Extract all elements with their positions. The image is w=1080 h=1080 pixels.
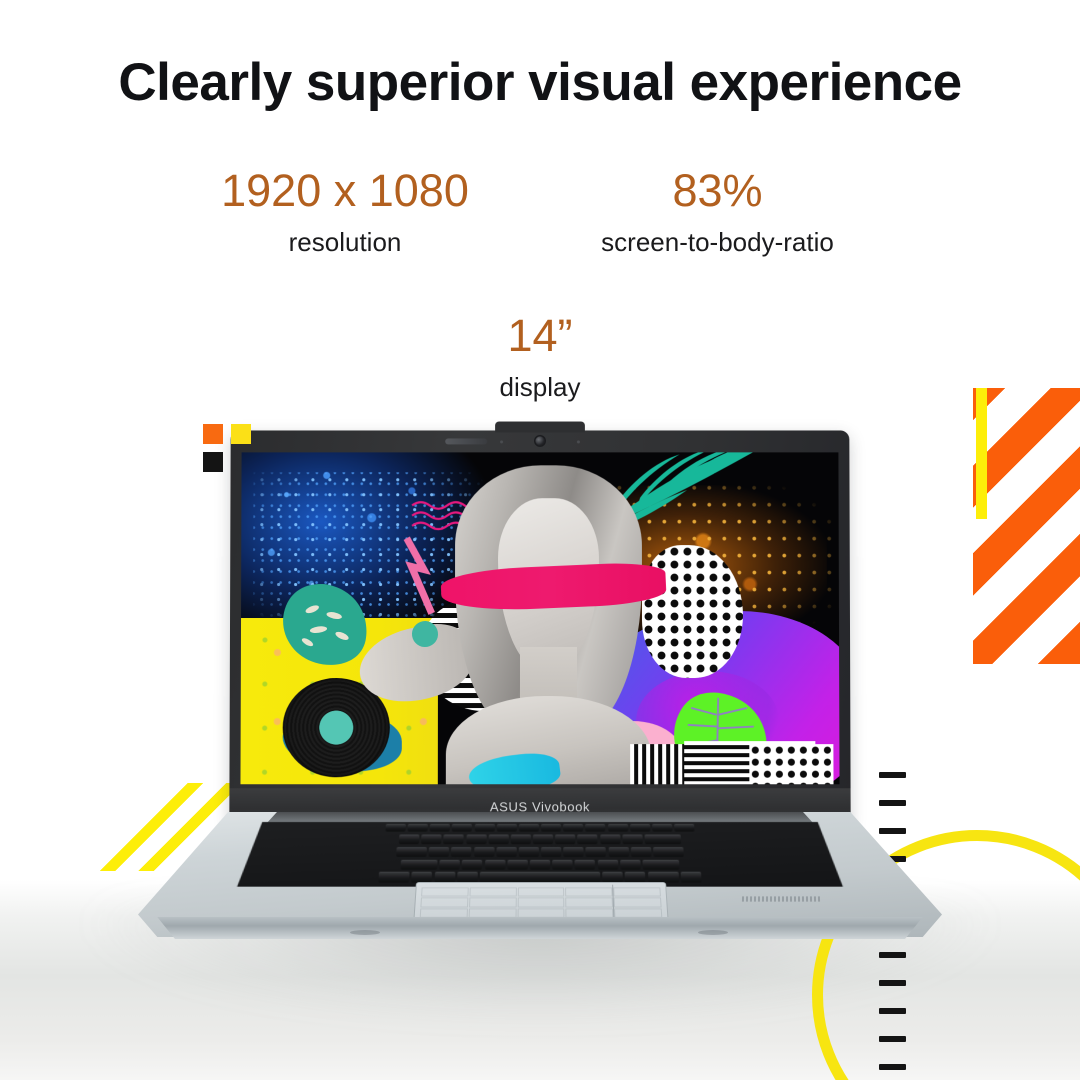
keyboard-row-number[interactable] [239,834,840,844]
backspace-key[interactable] [645,834,682,844]
key[interactable] [439,859,460,869]
spec-ratio-label: screen-to-body-ratio [545,229,890,255]
laptop-front-edge [138,917,942,939]
numpad-cell[interactable] [613,887,661,896]
key[interactable] [600,834,620,844]
orange-square-decoration [203,424,223,444]
key[interactable] [597,859,618,869]
numpad-cell[interactable] [421,887,469,896]
numpad-cell[interactable] [420,908,468,918]
key[interactable] [462,859,483,869]
key[interactable] [533,834,553,844]
tab-key[interactable] [396,847,427,857]
key[interactable] [541,824,561,832]
microphone-icon [500,440,503,443]
wallpaper-model-figure [426,459,666,784]
ctrl-key[interactable] [379,872,410,882]
key[interactable] [466,834,486,844]
key[interactable] [674,824,694,832]
wallpaper-vertical-stripes [630,744,684,784]
webcam-privacy-shutter-icon [445,438,487,444]
key[interactable] [586,847,606,857]
spec-display-label: display [400,374,680,400]
wallpaper-halftone-dots-bottom [750,744,834,784]
key[interactable] [474,824,494,832]
numpad-cell[interactable] [420,898,468,907]
key[interactable] [385,824,405,832]
numpad-cell[interactable] [469,898,517,907]
key[interactable] [552,859,572,869]
numpad-cell[interactable] [517,887,564,896]
numpad-cell[interactable] [566,898,614,907]
ruler-tick [879,952,906,958]
key[interactable] [452,824,472,832]
numpad-cell[interactable] [517,908,565,918]
ruler-tick [879,1064,906,1070]
key[interactable] [563,824,583,832]
arrow-key[interactable] [680,872,701,882]
spec-resolution-label: resolution [170,229,520,255]
key[interactable] [444,834,464,844]
webcam-icon [536,436,545,445]
spec-display-size: 14” display [400,313,680,400]
laptop-foot [698,930,728,935]
keyboard-row-home[interactable] [237,859,844,869]
key[interactable] [451,847,472,857]
numpad-cell[interactable] [517,898,564,907]
laptop-lid: ASUS Vivobook [229,430,850,824]
key[interactable] [421,834,442,844]
key[interactable] [631,847,652,857]
key[interactable] [519,847,539,857]
key[interactable] [488,834,508,844]
laptop-keyboard[interactable] [235,822,846,887]
key[interactable] [608,847,629,857]
key[interactable] [474,847,494,857]
key[interactable] [399,834,420,844]
key[interactable] [620,859,641,869]
key[interactable] [485,859,506,869]
spec-ratio-value: 83% [545,168,890,213]
key[interactable] [507,859,527,869]
numpad-cell[interactable] [614,898,662,907]
keyboard-row-qwerty[interactable] [238,847,842,857]
ruler-tick [879,1008,906,1014]
microphone-icon [577,440,580,443]
spec-resolution: 1920 x 1080 resolution [170,168,520,255]
numpad-cell[interactable] [565,887,612,896]
yellow-square-decoration [231,424,251,444]
black-square-decoration [203,452,223,472]
numpad-cell[interactable] [468,908,516,918]
spec-display-value: 14” [400,313,680,358]
ruler-ticks-bottom [879,952,906,1080]
key[interactable] [530,859,550,869]
key[interactable] [519,824,539,832]
laptop-product-image: ASUS Vivobook [138,430,942,950]
key[interactable] [541,847,561,857]
keyboard-row-function[interactable] [241,824,839,832]
capslock-key[interactable] [401,859,438,869]
laptop-foot [350,930,380,935]
orange-diagonal-stripes-decoration [973,388,1080,664]
numpad-cell[interactable] [614,908,662,918]
key[interactable] [511,834,531,844]
shift-key[interactable] [642,859,679,869]
key[interactable] [578,834,598,844]
page-title: Clearly superior visual experience [0,52,1080,113]
deck-engraving [742,896,820,901]
ruler-tick [879,980,906,986]
key[interactable] [430,824,450,832]
top-bezel [231,430,850,452]
yellow-accent-bar-decoration [976,388,987,519]
key[interactable] [575,859,596,869]
numpad-cell[interactable] [566,908,614,918]
key[interactable] [622,834,642,844]
key[interactable] [496,847,516,857]
key[interactable] [429,847,450,857]
key[interactable] [630,824,650,832]
key[interactable] [555,834,575,844]
laptop-screen [240,452,839,784]
brand-label: ASUS Vivobook [490,799,590,814]
spec-resolution-value: 1920 x 1080 [170,168,520,213]
key[interactable] [407,824,427,832]
numpad-cell[interactable] [469,887,516,896]
key[interactable] [497,824,517,832]
spec-screen-to-body-ratio: 83% screen-to-body-ratio [545,168,890,255]
key[interactable] [586,824,606,832]
enter-key[interactable] [653,847,684,857]
key[interactable] [608,824,628,832]
key[interactable] [564,847,584,857]
key[interactable] [652,824,672,832]
ruler-tick [879,1036,906,1042]
